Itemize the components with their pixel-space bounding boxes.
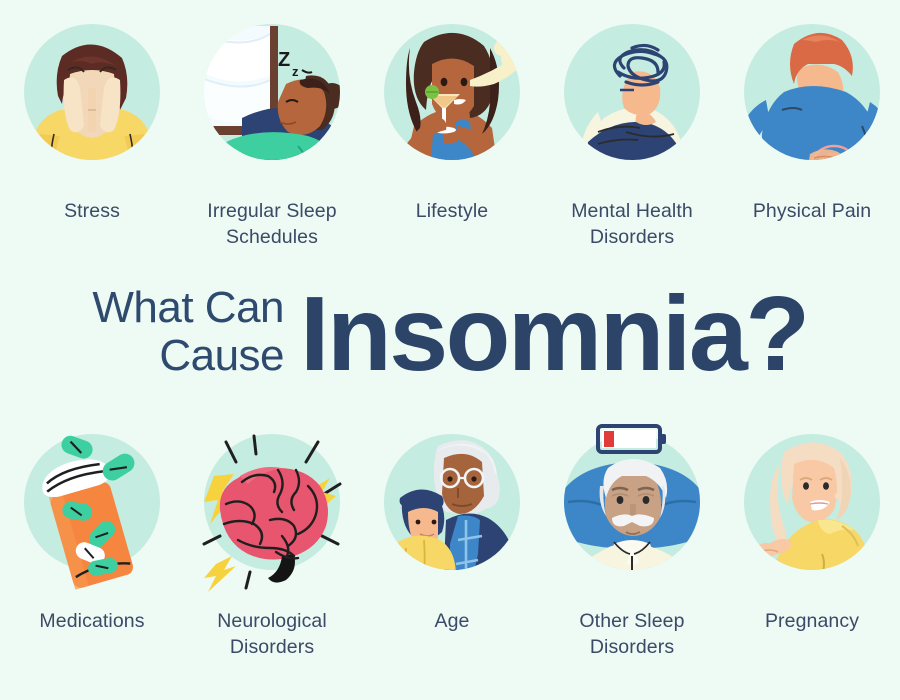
cause-physical-pain: Physical Pain [722,14,900,224]
mental-health-art-wrap [542,14,722,196]
causes-row-top: Stress Z [0,14,900,250]
cause-pregnancy: Pregnancy [722,424,900,634]
medications-art-wrap [2,424,182,606]
other-sleep-disorders-illustration [542,424,722,606]
cause-irregular-sleep-schedules: Z z [182,14,362,250]
neurological-art-wrap [182,424,362,606]
lifestyle-art-wrap [362,14,542,196]
age-art-wrap [362,424,542,606]
cause-lifestyle: Lifestyle [362,14,542,224]
mental-health-disorders-illustration [542,14,722,196]
cause-label: Neurological Disorders [179,608,365,660]
svg-text:z: z [292,64,299,79]
low-battery-icon [598,426,666,452]
cause-label: Medications [0,608,185,634]
headline-line-1: What Can [92,284,284,332]
tangled-thoughts-scribble [614,45,666,85]
causes-row-bottom: Medications [0,424,900,660]
headline-prefix: What Can Cause [92,284,300,384]
cause-label: Lifestyle [359,198,545,224]
physical-pain-illustration [722,14,900,196]
cause-label: Stress [0,198,185,224]
zzz-text: Z [278,49,290,71]
cause-label: Other Sleep Disorders [539,608,725,660]
cause-neurological-disorders: Neurological Disorders [182,424,362,660]
age-illustration [362,424,542,606]
neurological-disorders-illustration [182,424,362,606]
cause-label: Age [359,608,545,634]
insomnia-causes-infographic: Stress Z [0,0,900,700]
irregular-sleep-schedules-illustration: Z z [182,14,362,196]
medications-illustration [2,424,182,606]
physical-pain-art-wrap [722,14,900,196]
lifestyle-illustration [362,14,542,196]
stress-illustration [2,14,182,196]
cause-label: Physical Pain [719,198,900,224]
headline-line-2: Cause [92,332,284,380]
cause-label: Pregnancy [719,608,900,634]
stress-art-wrap [2,14,182,196]
pregnancy-art-wrap [722,424,900,606]
cause-age: Age [362,424,542,634]
irregular-sleep-art-wrap: Z z [182,14,362,196]
cause-medications: Medications [2,424,182,634]
cause-label: Irregular Sleep Schedules [179,198,365,250]
cause-stress: Stress [2,14,182,224]
headline: What Can Cause Insomnia? [0,272,900,396]
cause-mental-health-disorders: Mental Health Disorders [542,14,722,250]
cause-label: Mental Health Disorders [539,198,725,250]
headline-keyword: Insomnia? [300,281,808,387]
cause-other-sleep-disorders: Other Sleep Disorders [542,424,722,660]
other-sleep-art-wrap [542,424,722,606]
pregnancy-illustration [722,424,900,606]
